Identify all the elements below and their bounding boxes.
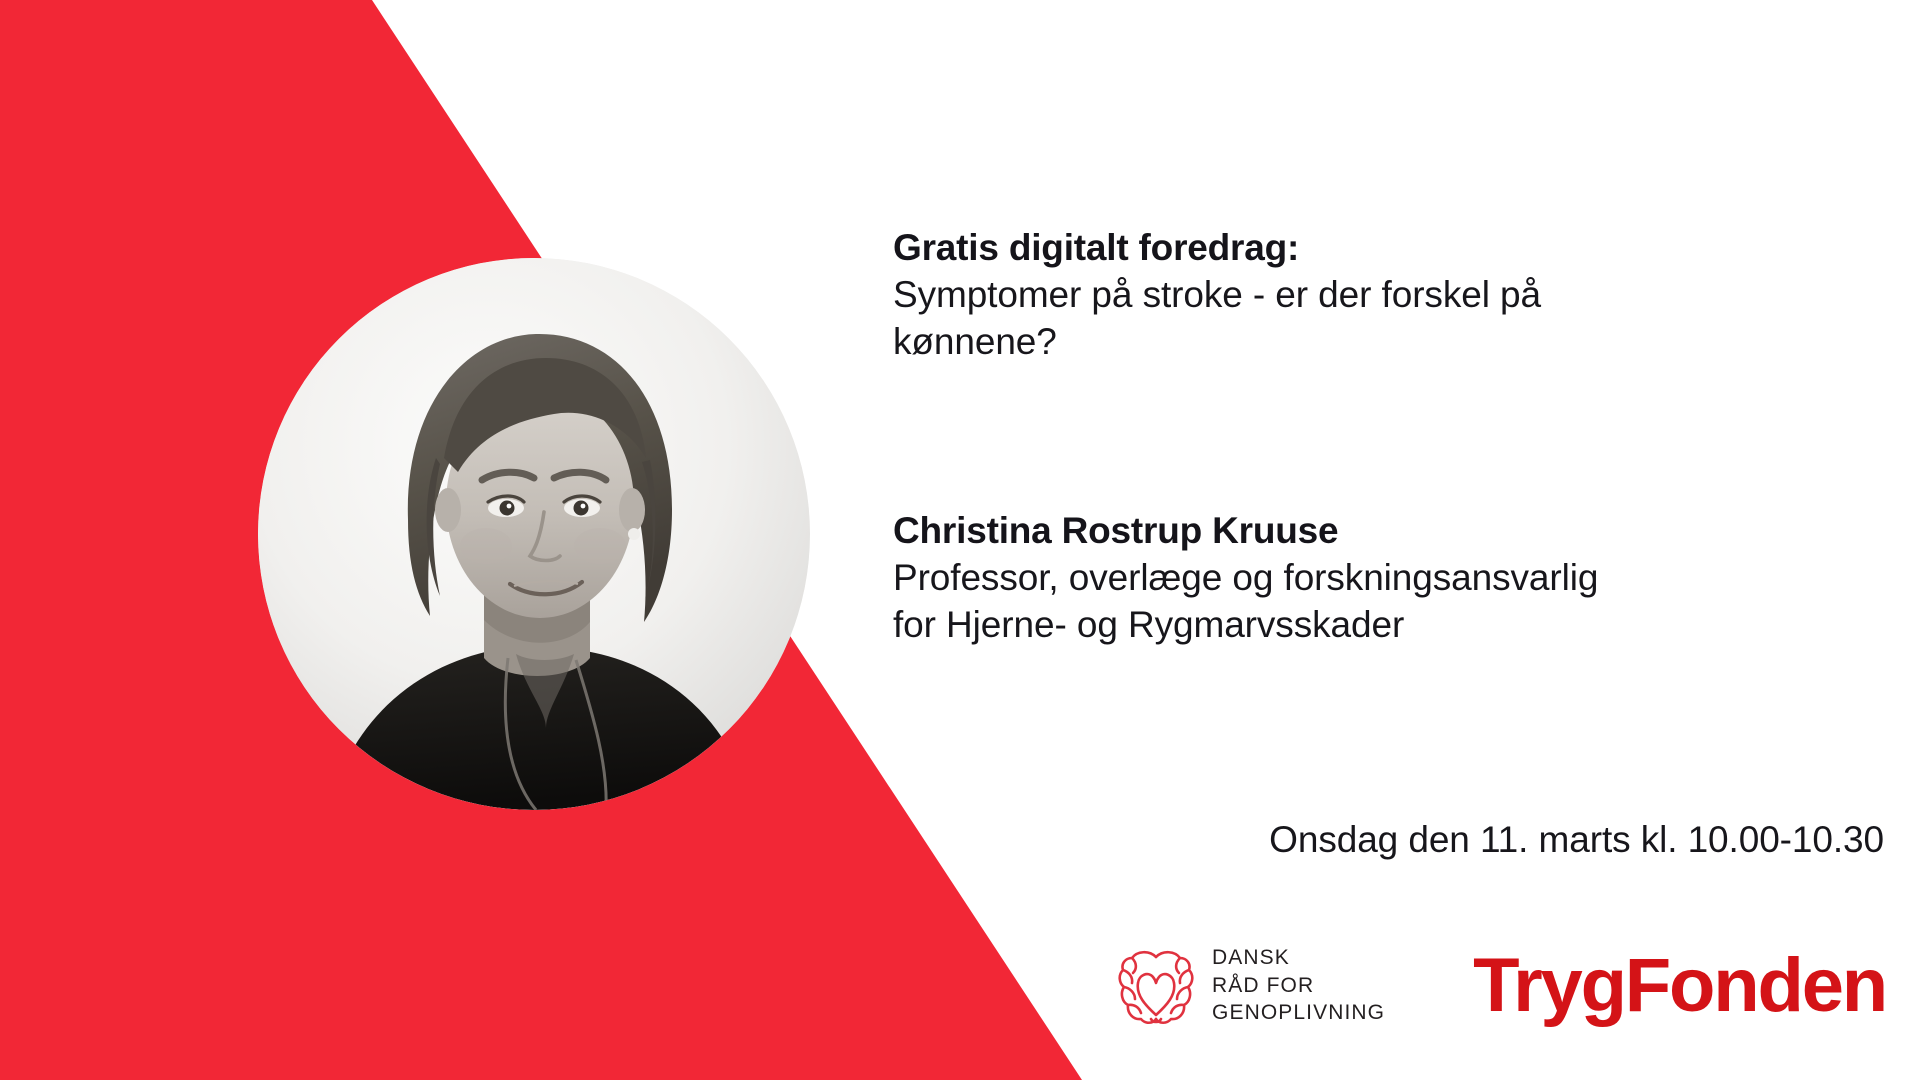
speaker-name: Christina Rostrup Kruuse (893, 508, 1793, 555)
drg-logo: DANSK RÅD FOR GENOPLIVNING (1117, 936, 1385, 1036)
speaker-portrait (258, 258, 810, 810)
trygfonden-logo: TrygFonden (1473, 948, 1886, 1024)
brain-heart-icon (1117, 945, 1195, 1027)
drg-line-2: RÅD FOR (1212, 974, 1385, 998)
talk-block: Gratis digitalt foredrag: Symptomer på s… (893, 225, 1773, 366)
drg-line-3: GENOPLIVNING (1212, 1001, 1385, 1025)
content-column: Gratis digitalt foredrag: Symptomer på s… (893, 0, 1920, 1080)
talk-title-line-2: kønnene? (893, 319, 1773, 366)
schedule-date-time: Onsdag den 11. marts kl. 10.00-10.30 (1269, 818, 1884, 862)
promo-slide: Gratis digitalt foredrag: Symptomer på s… (0, 0, 1920, 1080)
drg-line-1: DANSK (1212, 946, 1385, 970)
speaker-block: Christina Rostrup Kruuse Professor, over… (893, 508, 1793, 649)
speaker-role-line-1: Professor, overlæge og forskningsansvarl… (893, 555, 1793, 602)
logo-row: DANSK RÅD FOR GENOPLIVNING TrygFonden (1117, 930, 1886, 1042)
talk-label: Gratis digitalt foredrag: (893, 225, 1773, 272)
speaker-role-line-2: for Hjerne- og Rygmarvsskader (893, 602, 1793, 649)
talk-title-line-1: Symptomer på stroke - er der forskel på (893, 272, 1773, 319)
drg-wordmark: DANSK RÅD FOR GENOPLIVNING (1212, 946, 1385, 1025)
